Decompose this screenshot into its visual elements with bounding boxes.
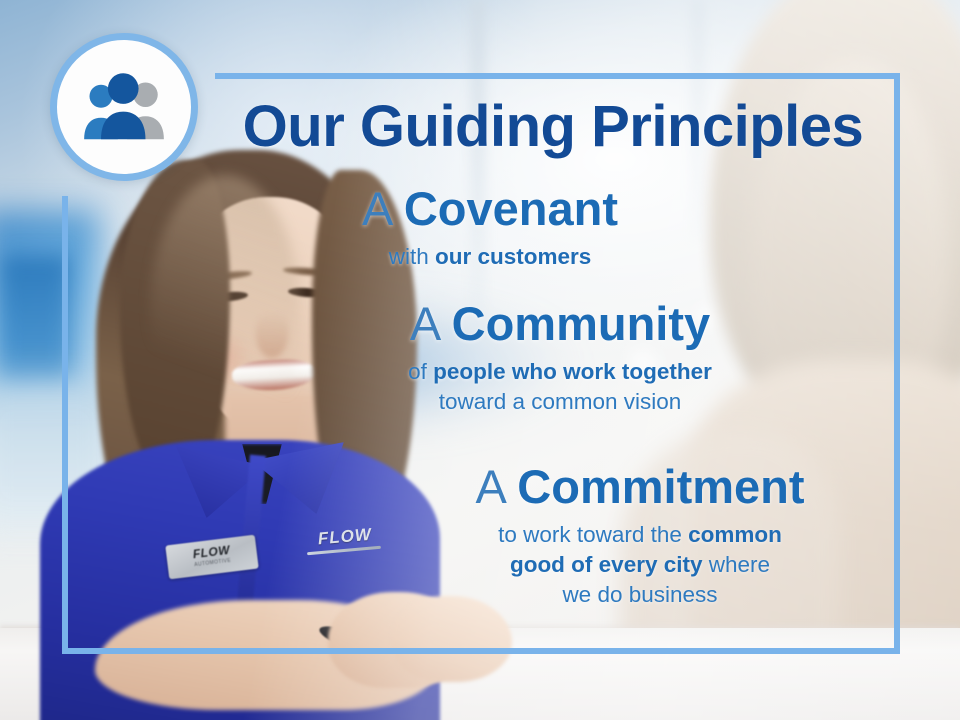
- frame-border-left: [62, 196, 68, 654]
- principle-subtext-part: where: [703, 552, 771, 577]
- principle-subtext-emphasis: common: [688, 522, 782, 547]
- frame-border-bottom: [62, 648, 900, 654]
- principle-headline: A Commitment: [400, 463, 880, 512]
- principle-covenant: A Covenant with our customers: [290, 185, 690, 272]
- page-title: Our Guiding Principles: [213, 93, 893, 160]
- principle-article: A: [410, 297, 452, 350]
- guiding-principles-poster: FLOW AUTOMOTIVE FLOW Our Guiding Princip…: [0, 0, 960, 720]
- principle-subtext-prefix: with: [389, 244, 435, 269]
- principle-community: A Community of people who work together …: [330, 300, 790, 417]
- frame-border-right: [894, 73, 900, 654]
- principle-keyword: Community: [452, 297, 711, 350]
- group-people-icon: [78, 71, 170, 143]
- principle-subtext-part: we do business: [562, 582, 717, 607]
- principle-subtext-emphasis: people who work together: [433, 359, 712, 384]
- principle-subtext: to work toward the commongood of every c…: [400, 520, 880, 610]
- group-people-badge: [50, 33, 198, 181]
- principle-subtext-suffix: toward a common vision: [439, 389, 682, 414]
- showroom-monitor: [0, 255, 70, 385]
- principle-subtext: of people who work together toward a com…: [330, 357, 790, 417]
- principle-commitment: A Commitment to work toward the commongo…: [400, 463, 880, 610]
- principle-article: A: [475, 460, 517, 513]
- principle-keyword: Covenant: [404, 182, 618, 235]
- principle-subtext-emphasis: good of every city: [510, 552, 703, 577]
- frame-border-top: [215, 73, 900, 79]
- principle-subtext-emphasis: our customers: [435, 244, 591, 269]
- principle-subtext-prefix: of: [408, 359, 433, 384]
- principle-subtext-part: to work toward the: [498, 522, 688, 547]
- window-mullion: [470, 0, 486, 330]
- associate-hair-sheen: [150, 175, 300, 475]
- principle-subtext: with our customers: [290, 242, 690, 272]
- principle-headline: A Covenant: [290, 185, 690, 234]
- principle-article: A: [362, 182, 404, 235]
- principle-headline: A Community: [330, 300, 790, 349]
- principle-keyword: Commitment: [517, 460, 804, 513]
